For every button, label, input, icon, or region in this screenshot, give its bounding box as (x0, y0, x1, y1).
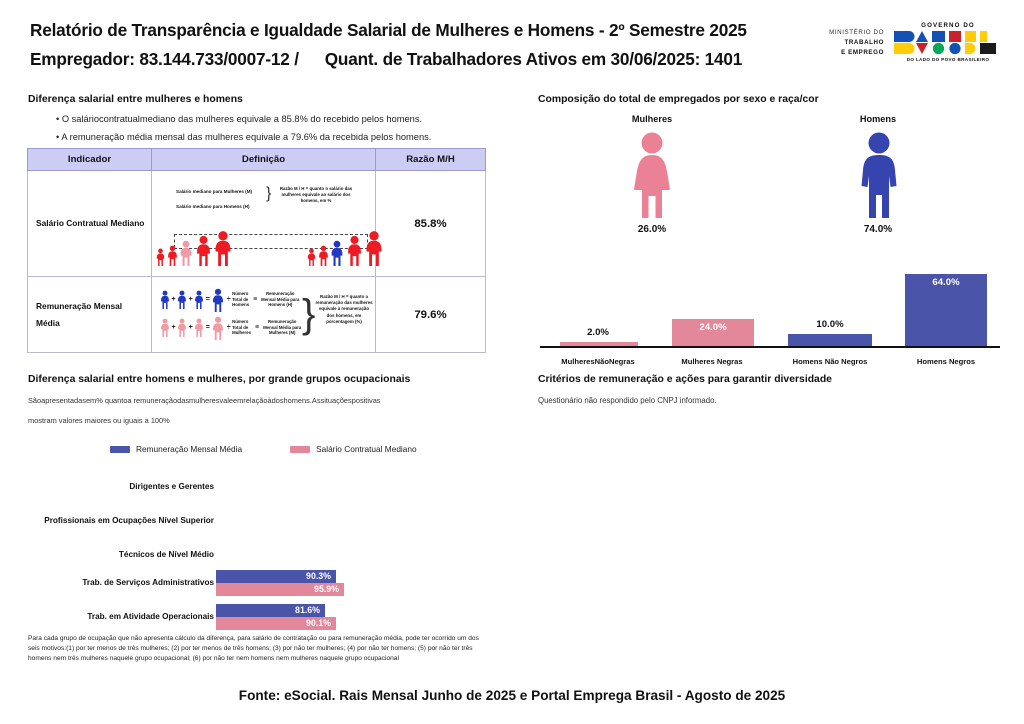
row-definition-median-salary: Salário mediano para Mulheres (M) Salári… (152, 171, 376, 277)
info2-women-count-label: NúmeroTotal deMulheres (232, 319, 251, 336)
salary-indicator-table: Indicador Definição Razão M/H Salário Co… (27, 148, 486, 353)
person-icon-total (211, 288, 225, 312)
occ-bar-operacionais-pink: 90.1% (216, 617, 336, 630)
occ-label-profissionais: Profissionais em Ocupações Nível Superio… (24, 516, 214, 525)
info2-brace-icon: } (302, 294, 315, 334)
occ-label-operacionais: Trab. em Atividade Operacionais (24, 612, 214, 621)
occ-value-administrativos-pink: 95.9% (314, 583, 339, 596)
occ-bars-administrativos: 90.3% 95.9% (216, 570, 344, 596)
legend-swatch-blue (110, 446, 130, 453)
person-icon (160, 290, 170, 309)
bar-category-homens-nao-negros: Homens Não Negros (774, 357, 886, 366)
person-icon (194, 318, 204, 337)
identity-icon: ≡ (252, 324, 262, 331)
equals-icon: = (205, 296, 210, 303)
pictogram-label-men: Homens (818, 114, 938, 124)
divide-icon: ÷ (226, 324, 231, 331)
section-title-criteria: Critérios de remuneração e ações para ga… (538, 374, 832, 385)
bar-value-homens-nao-negros: 10.0% (774, 319, 886, 330)
row-definition-monthly-remuneration: + + = ÷ NúmeroTotal deHomens ≡ Remuneraç… (152, 277, 376, 353)
governo-do-label: GOVERNO DO (894, 22, 1002, 29)
occ-row-dirigentes: Dirigentes e Gerentes (24, 472, 494, 502)
occ-value-operacionais-pink: 90.1% (306, 617, 331, 630)
pictogram-value-men: 74.0% (818, 224, 938, 235)
info2-men-result-label: RemuneraçãoMensal Média paraHomens (H) (261, 291, 299, 308)
report-title: Relatório de Transparência e Igualdade S… (30, 19, 747, 42)
occ-row-tecnicos: Técnicos de Nível Médio (24, 540, 494, 570)
bar-group-mulheres-negras: 24.0% (660, 270, 764, 346)
chart-baseline (540, 346, 1000, 348)
divide-icon: ÷ (226, 296, 231, 303)
occ-bar-administrativos-blue: 90.3% (216, 570, 336, 583)
plus-icon: + (188, 324, 193, 331)
header-titles: Relatório de Transparência e Igualdade S… (30, 19, 747, 71)
info2-note: Razão M / H = quanto a remuneração das m… (315, 294, 373, 326)
legend-item-salario: Salário Contratual Mediano (290, 444, 417, 454)
active-workers-count: Quant. de Trabalhadores Ativos em 30/06/… (325, 49, 742, 69)
bar-group-mulheres-nao-negras: 2.0% (546, 270, 650, 346)
ministry-line-2: TRABALHO (802, 38, 884, 48)
bar-category-mulheres-nao-negras: MulheresNãoNegras (546, 357, 650, 366)
row-ratio-median-salary: 85.8% (376, 171, 486, 277)
info1-label-women: Salário mediano para Mulheres (M) (176, 189, 252, 194)
bullet-median-salary: • O saláriocontratualmediano das mulhere… (56, 114, 422, 124)
man-icon (856, 132, 902, 223)
ministry-line-3: E EMPREGO (802, 48, 884, 58)
col-header-definicao: Definição (152, 149, 376, 171)
identity-icon: ≡ (250, 296, 260, 303)
infographic-monthly-remuneration: + + = ÷ NúmeroTotal deHomens ≡ Remuneraç… (152, 280, 375, 350)
pictogram-value-women: 26.0% (592, 224, 712, 235)
report-header: Relatório de Transparência e Igualdade S… (0, 0, 1024, 82)
info1-note: Razão M / H = quanto o salário das mulhe… (278, 186, 354, 205)
person-icon (177, 318, 187, 337)
occ-row-administrativos: Trab. de Serviços Administrativos 90.3% … (24, 568, 494, 602)
section-title-salary-difference: Diferença salarial entre mulheres e home… (28, 94, 243, 105)
section-title-composition: Composição do total de empregados por se… (538, 94, 819, 105)
brasil-brand: GOVERNO DO (894, 22, 1002, 62)
employer-line: Empregador: 83.144.733/0007-12 / Quant. … (30, 48, 747, 71)
bar-category-homens-negros: Homens Negros (894, 357, 998, 366)
row-indicator-monthly-remuneration: Remuneração Mensal Média (28, 277, 152, 353)
section-title-occupational-groups: Diferença salarial entre homens e mulher… (28, 374, 410, 385)
bar-category-mulheres-negras: Mulheres Negras (660, 357, 764, 366)
employer-cnpj: Empregador: 83.144.733/0007-12 (30, 49, 290, 69)
woman-icon (626, 132, 678, 223)
occ-bars-operacionais: 81.6% 90.1% (216, 604, 336, 630)
bar-value-mulheres-negras: 24.0% (672, 322, 754, 333)
bar-group-homens-negros: 64.0% (894, 270, 998, 346)
report-page: Relatório de Transparência e Igualdade S… (0, 0, 1024, 724)
bar-homens-nao-negros (788, 334, 872, 346)
person-icon (307, 248, 316, 266)
person-icon (195, 235, 212, 266)
info1-people-women-group (156, 230, 233, 266)
person-icon (194, 290, 204, 309)
occ-row-operacionais: Trab. em Atividade Operacionais 81.6% 90… (24, 602, 494, 636)
occupational-groups-chart: Dirigentes e Gerentes Profissionais em O… (24, 472, 494, 622)
plus-icon: + (171, 324, 176, 331)
ministry-line-1: MINISTÉRIO DO (802, 28, 884, 38)
col-header-razao: Razão M/H (376, 149, 486, 171)
occ-bar-operacionais-blue: 81.6% (216, 604, 325, 617)
bullet-average-remuneration: • A remuneração média mensal das mulhere… (56, 132, 431, 142)
person-icon (177, 290, 187, 309)
legend-item-remuneracao: Remuneração Mensal Média (110, 444, 242, 454)
occ-row-profissionais: Profissionais em Ocupações Nível Superio… (24, 506, 494, 536)
bar-mulheres-nao-negras (560, 342, 638, 346)
occ-label-tecnicos: Técnicos de Nível Médio (24, 550, 214, 559)
criteria-text: Questionário não respondido pelo CNPJ in… (538, 396, 717, 405)
occupational-subtitle-line2: mostram valores maiores ou iguais a 100% (28, 416, 170, 425)
info2-men-count-label: NúmeroTotal deHomens (232, 291, 249, 308)
person-icon (167, 245, 178, 266)
row-indicator-median-salary: Salário Contratual Mediano (28, 171, 152, 277)
info2-women-result-label: RemuneraçãoMensal Média paraMulheres (M) (263, 319, 301, 336)
occ-value-administrativos-blue: 90.3% (306, 570, 331, 583)
row-ratio-monthly-remuneration: 79.6% (376, 277, 486, 353)
brasil-tagline: DO LADO DO POVO BRASILEIRO (894, 57, 1002, 62)
table-row: Salário Contratual Mediano Salário media… (28, 171, 486, 277)
source-line: Fonte: eSocial. Rais Mensal Junho de 202… (0, 688, 1024, 703)
person-icon (156, 248, 165, 266)
occupational-footnote: Para cada grupo de ocupação que não apre… (28, 634, 490, 665)
plus-icon: + (188, 296, 193, 303)
bar-value-mulheres-nao-negras: 2.0% (546, 327, 650, 338)
col-header-indicador: Indicador (28, 149, 152, 171)
pictogram-label-women: Mulheres (592, 114, 712, 124)
occ-label-dirigentes: Dirigentes e Gerentes (24, 482, 214, 491)
race-composition-chart: 2.0% MulheresNãoNegras 24.0% Mulheres Ne… (540, 258, 1000, 368)
table-row: Remuneração Mensal Média + + = (28, 277, 486, 353)
info1-label-men: Salário mediano para Homens (H) (176, 204, 250, 209)
person-icon-highlight (330, 240, 344, 266)
plus-icon: + (171, 296, 176, 303)
brasil-logo-icon (894, 30, 1002, 56)
info1-people-men-group (307, 230, 384, 266)
title-separator: / (294, 48, 320, 71)
equals-icon: = (205, 324, 210, 331)
bar-group-homens-nao-negros: 10.0% (774, 270, 886, 346)
info2-women-equation: + + = ÷ NúmeroTotal deMulheres ≡ Remuner… (160, 316, 301, 340)
bar-mulheres-negras: 24.0% (672, 319, 754, 346)
infographic-median-salary: Salário mediano para Mulheres (M) Salári… (152, 176, 375, 272)
info2-men-equation: + + = ÷ NúmeroTotal deHomens ≡ Remuneraç… (160, 288, 299, 312)
bar-homens-negros: 64.0% (905, 274, 987, 346)
occ-value-operacionais-blue: 81.6% (295, 604, 320, 617)
occupational-subtitle-line1: Sãoapresentadasem% quantoa remuneraçãoda… (28, 396, 381, 405)
occ-bar-administrativos-pink: 95.9% (216, 583, 344, 596)
legend-swatch-pink (290, 446, 310, 453)
info1-brace-icon: } (266, 186, 271, 202)
person-icon (364, 230, 384, 266)
person-icon (213, 230, 233, 266)
person-icon-total (211, 316, 225, 340)
person-icon (160, 318, 170, 337)
person-icon-highlight (179, 240, 193, 266)
government-logo: MINISTÉRIO DO TRABALHO E EMPREGO GOVERNO… (802, 22, 1002, 68)
person-icon (346, 235, 363, 266)
ministry-text: MINISTÉRIO DO TRABALHO E EMPREGO (802, 28, 884, 59)
legend-label-salario: Salário Contratual Mediano (316, 444, 417, 454)
row-indicator-line1: Remuneração Mensal (36, 298, 145, 315)
row-indicator-line2: Média (36, 315, 145, 332)
bar-value-homens-negros: 64.0% (905, 277, 987, 288)
occupational-chart-legend: Remuneração Mensal Média Salário Contrat… (110, 444, 417, 454)
person-icon (318, 245, 329, 266)
table-header-row: Indicador Definição Razão M/H (28, 149, 486, 171)
legend-label-remuneracao: Remuneração Mensal Média (136, 444, 242, 454)
occ-label-administrativos: Trab. de Serviços Administrativos (24, 578, 214, 587)
